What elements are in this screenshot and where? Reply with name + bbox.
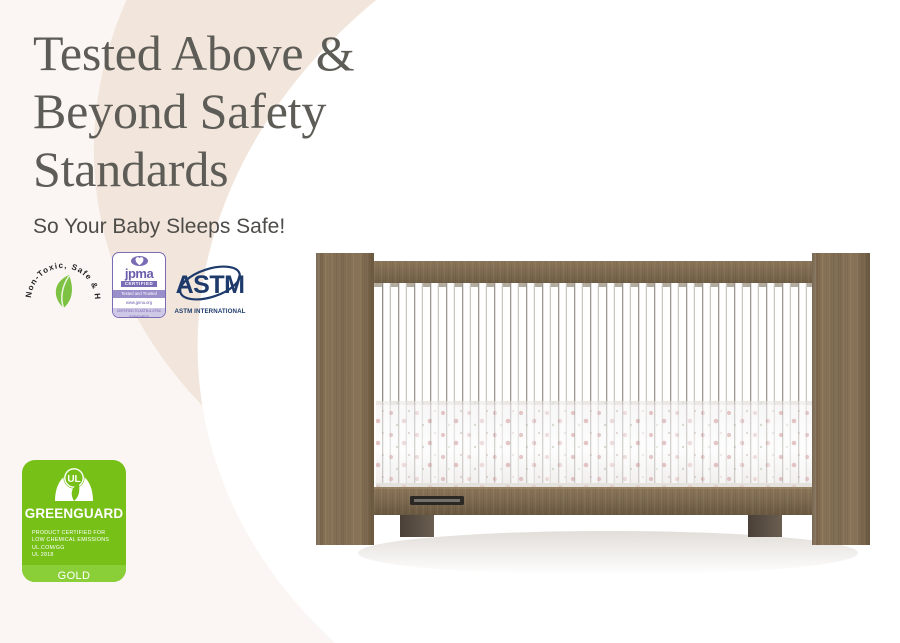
jpma-wordmark: jpma: [125, 267, 153, 280]
certification-badge-row: Non-Toxic, Safe & Healthy jpma CERTIFIED…: [22, 250, 246, 320]
heart-in-circle-icon: [131, 256, 148, 266]
badge-non-toxic-safe-healthy: Non-Toxic, Safe & Healthy: [22, 250, 104, 320]
subheadline: So Your Baby Sleeps Safe!: [33, 214, 433, 240]
jpma-tagline: Tested and Trusted: [113, 290, 165, 298]
brand-plate: [410, 496, 464, 505]
headline-block: Tested Above & Beyond Safety Standards S…: [33, 24, 433, 240]
greenguard-level-label: GOLD: [22, 565, 126, 582]
safety-standards-banner: Tested Above & Beyond Safety Standards S…: [0, 0, 900, 643]
product-image-crib: [308, 253, 878, 588]
floor-shadow: [358, 531, 858, 575]
page-title: Tested Above & Beyond Safety Standards: [33, 24, 433, 198]
badge-astm-international: ASTM ASTM INTERNATIONAL: [174, 254, 246, 316]
badge-greenguard-gold: UL GREENGUARD PRODUCT CERTIFIED FOR LOW …: [22, 460, 126, 582]
greenguard-wordmark: GREENGUARD: [25, 506, 124, 522]
greenguard-fine-print: PRODUCT CERTIFIED FOR LOW CHEMICAL EMISS…: [32, 530, 116, 560]
svg-text:UL: UL: [67, 474, 80, 485]
badge-jpma-certified: jpma CERTIFIED Tested and Trusted www.jp…: [112, 252, 166, 318]
leaf-icon: [56, 275, 72, 308]
astm-wordmark: ASTM: [176, 271, 244, 299]
jpma-footnote: CERTIFIED TO ASTM & CPSC STANDARDS: [113, 308, 165, 318]
jpma-certified-label: CERTIFIED: [121, 281, 158, 287]
jpma-url: www.jpma.org: [126, 298, 152, 307]
astm-logo: ASTM: [176, 260, 244, 306]
astm-caption: ASTM INTERNATIONAL: [174, 307, 245, 316]
ul-leaf-shield-icon: UL: [51, 467, 97, 503]
